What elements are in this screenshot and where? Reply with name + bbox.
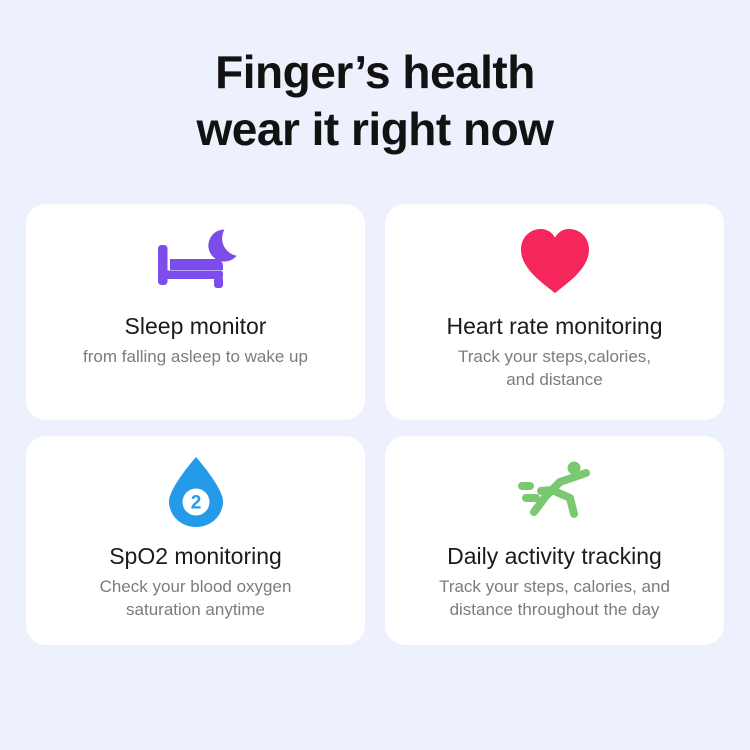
feature-card-sleep-monitor[interactable]: Sleep monitor from falling asleep to wak… [26, 204, 365, 420]
feature-card-daily-activity[interactable]: Daily activity tracking Track your steps… [385, 436, 724, 645]
running-person-icon [385, 436, 724, 540]
card-subtitle: Track your steps,calories, and distance [444, 345, 665, 391]
drop-badge-label: 2 [190, 493, 201, 514]
card-title: Daily activity tracking [447, 542, 662, 570]
card-subtitle: from falling asleep to wake up [69, 345, 322, 368]
promo-page: Finger’s health wear it right now [0, 0, 750, 750]
page-title-line-1: Finger’s health [0, 44, 750, 101]
page-title: Finger’s health wear it right now [0, 44, 750, 158]
feature-card-heart-rate[interactable]: Heart rate monitoring Track your steps,c… [385, 204, 724, 420]
feature-card-grid: Sleep monitor from falling asleep to wak… [26, 204, 724, 645]
card-subtitle: Check your blood oxygen saturation anyti… [86, 575, 306, 621]
card-title: Sleep monitor [125, 312, 267, 340]
bed-moon-icon [26, 204, 365, 310]
water-drop-o2-icon: 2 [26, 436, 365, 540]
heart-icon [385, 204, 724, 310]
card-subtitle: Track your steps, calories, and distance… [425, 575, 684, 621]
card-title: Heart rate monitoring [446, 312, 662, 340]
page-title-line-2: wear it right now [0, 101, 750, 158]
card-title: SpO2 monitoring [109, 542, 282, 570]
feature-card-spo2[interactable]: 2 SpO2 monitoring Check your blood oxyge… [26, 436, 365, 645]
